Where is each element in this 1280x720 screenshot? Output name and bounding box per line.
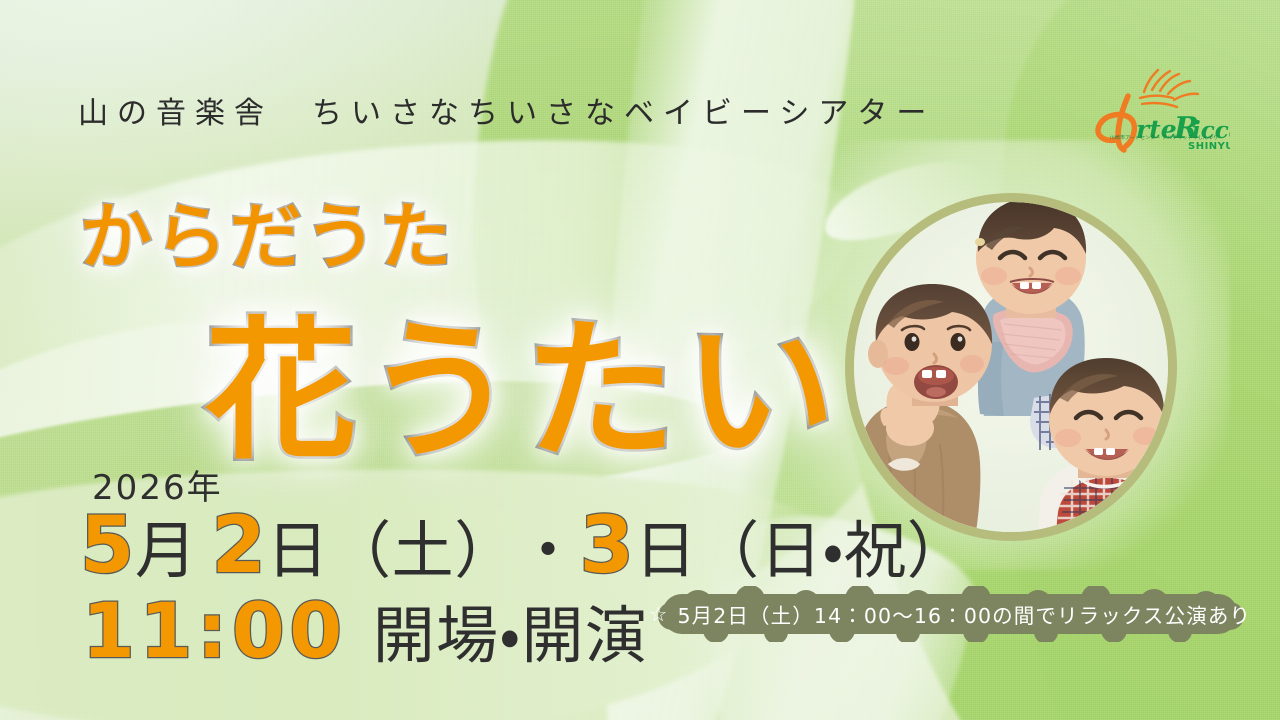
schedule-time-line: 11 : 00 開場・開演 bbox=[82, 585, 648, 675]
date-day2-label: 日 bbox=[634, 500, 697, 590]
schedule-date-line: 5 月 2 日 （土） ・ 3 日 （日・祝） bbox=[80, 500, 969, 590]
logo-arte-ricca[interactable]: rte R icca SHINYURI bbox=[1070, 62, 1230, 158]
date-day1-number: 2 bbox=[212, 511, 267, 581]
title-main-hanautai: 花うたい bbox=[205, 268, 843, 488]
date-day1-weekday: （土） bbox=[329, 500, 517, 590]
banner-text: ☆ 5月2日（土）14：00〜16：00の間でリラックス公演あり bbox=[646, 586, 1254, 642]
photo-babies bbox=[854, 202, 1168, 532]
banner-message: 5月2日（土）14：00〜16：00の間でリラックス公演あり bbox=[677, 599, 1251, 629]
time-label: 開場・開演 bbox=[373, 585, 648, 675]
date-month-label: 月 bbox=[135, 500, 198, 590]
time-colon: : bbox=[197, 597, 232, 665]
photo-circle-frame bbox=[845, 193, 1177, 541]
date-day2-number: 3 bbox=[580, 511, 635, 581]
star-icon: ☆ bbox=[649, 602, 669, 626]
time-hour: 11 bbox=[82, 597, 197, 665]
date-separator: ・ bbox=[517, 500, 580, 590]
logo-subtitle-japanese: 川崎市アートセンター アルテリッチャしんゆり bbox=[1098, 134, 1230, 140]
poster-canvas: 山の音楽舎 ちいさなちいさなベイビーシアター rte R bbox=[0, 0, 1280, 720]
time-minute: 00 bbox=[232, 597, 347, 665]
date-day1-label: 日 bbox=[266, 500, 329, 590]
relax-performance-banner: ☆ 5月2日（土）14：00〜16：00の間でリラックス公演あり bbox=[646, 586, 1254, 642]
svg-text:SHINYURI: SHINYURI bbox=[1188, 141, 1230, 152]
date-month-number: 5 bbox=[80, 511, 135, 581]
header-series-line: 山の音楽舎 ちいさなちいさなベイビーシアター bbox=[78, 88, 935, 132]
